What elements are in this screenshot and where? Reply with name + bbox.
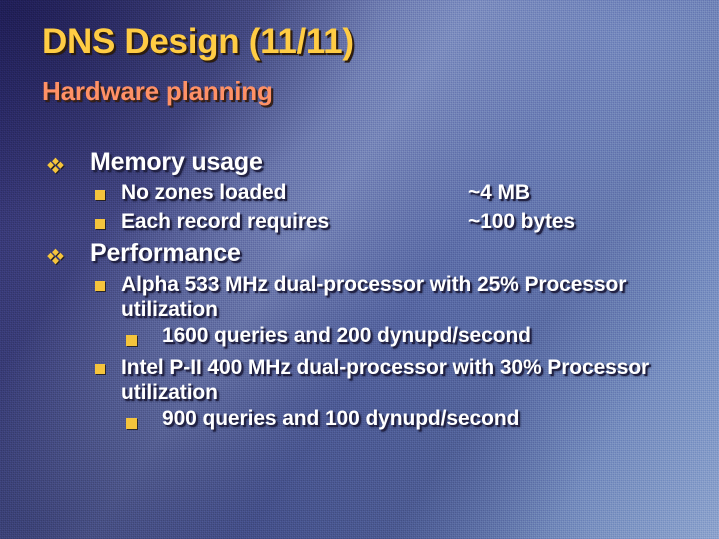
slide-title: DNS Design (11/11) [42, 22, 354, 62]
bullet-value: ~4 MB [468, 181, 530, 205]
slide-subtitle: Hardware planning [42, 76, 273, 107]
bullet-text: Intel P-II 400 MHz dual-processor with 3… [121, 355, 681, 405]
bullet-level1: Memory usage [0, 148, 719, 181]
bullet-level3: 1600 queries and 200 dynupd/second [0, 324, 719, 355]
bullet-text: 1600 queries and 200 dynupd/second [162, 324, 531, 348]
square-bullet-icon [95, 364, 105, 374]
bullet-text: Alpha 533 MHz dual-processor with 25% Pr… [121, 272, 681, 322]
square-bullet-icon [126, 418, 137, 429]
slide-body: Memory usage No zones loaded ~4 MB Each … [0, 148, 719, 438]
bullet-text: No zones loaded [121, 181, 286, 205]
square-bullet-icon [126, 335, 137, 346]
bullet-level3: 900 queries and 100 dynupd/second [0, 407, 719, 438]
square-bullet-icon [95, 190, 105, 200]
diamond-cluster-icon [47, 157, 64, 174]
bullet-level2: Alpha 533 MHz dual-processor with 25% Pr… [0, 272, 719, 324]
bullet-level2: Intel P-II 400 MHz dual-processor with 3… [0, 355, 719, 407]
bullet-level2: No zones loaded ~4 MB [0, 181, 719, 210]
presentation-slide: DNS Design (11/11) Hardware planning Mem… [0, 0, 719, 539]
bullet-text: Performance [90, 239, 241, 268]
bullet-text: Each record requires [121, 210, 329, 234]
square-bullet-icon [95, 219, 105, 229]
bullet-text: Memory usage [90, 148, 263, 177]
square-bullet-icon [95, 281, 105, 291]
slide-content: DNS Design (11/11) Hardware planning Mem… [0, 0, 719, 539]
bullet-level1: Performance [0, 239, 719, 272]
bullet-text: 900 queries and 100 dynupd/second [162, 407, 519, 431]
diamond-cluster-icon [47, 248, 64, 265]
bullet-level2: Each record requires ~100 bytes [0, 210, 719, 239]
bullet-value: ~100 bytes [468, 210, 575, 234]
